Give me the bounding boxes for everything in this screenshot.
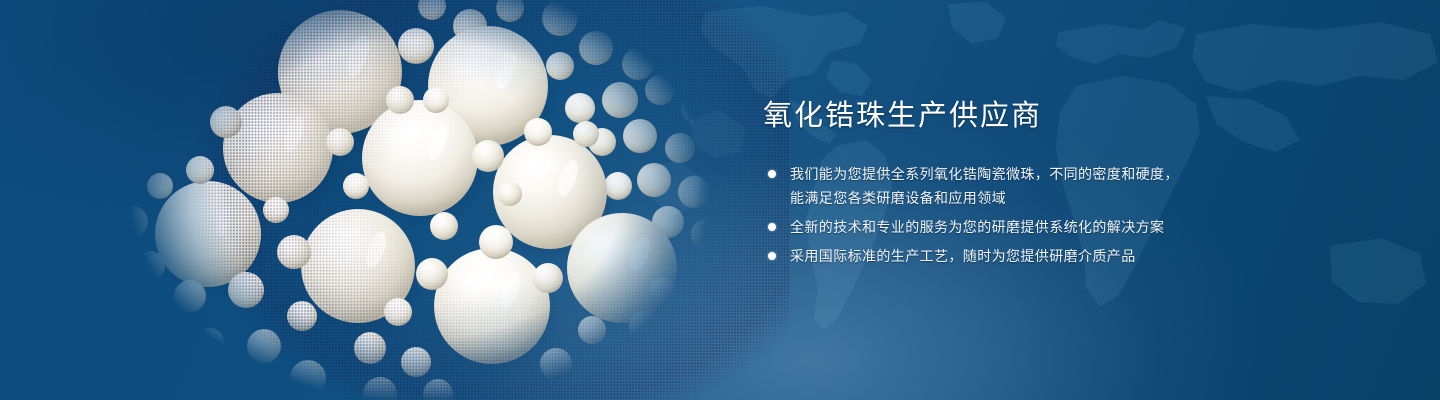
bullet-dot-icon — [768, 252, 776, 260]
list-item-line-1: 采用国际标准的生产工艺，随时为您提供研磨介质产品 — [790, 248, 1136, 264]
page-title: 氧化锆珠生产供应商 — [763, 96, 1400, 136]
list-item: 全新的技术和专业的服务为您的研磨提供系统化的解决方案 — [760, 215, 1400, 239]
bullet-dot-icon — [768, 170, 776, 178]
list-item-line-1: 全新的技术和专业的服务为您的研磨提供系统化的解决方案 — [790, 219, 1164, 235]
list-item-line-2: 能满足您各类研磨设备和应用领域 — [790, 186, 1400, 210]
feature-list: 我们能为您提供全系列氧化锆陶瓷微珠，不同的密度和硬度， 能满足您各类研磨设备和应… — [760, 162, 1400, 268]
bullet-dot-icon — [768, 223, 776, 231]
list-item: 我们能为您提供全系列氧化锆陶瓷微珠，不同的密度和硬度， 能满足您各类研磨设备和应… — [760, 162, 1400, 210]
list-item: 采用国际标准的生产工艺，随时为您提供研磨介质产品 — [760, 244, 1400, 268]
list-item-line-1: 我们能为您提供全系列氧化锆陶瓷微珠，不同的密度和硬度， — [790, 166, 1179, 182]
hero-banner: 氧化锆珠生产供应商 我们能为您提供全系列氧化锆陶瓷微珠，不同的密度和硬度， 能满… — [0, 0, 1440, 400]
zirconia-beads-photo — [40, 0, 760, 400]
banner-copy: 氧化锆珠生产供应商 我们能为您提供全系列氧化锆陶瓷微珠，不同的密度和硬度， 能满… — [760, 96, 1400, 268]
